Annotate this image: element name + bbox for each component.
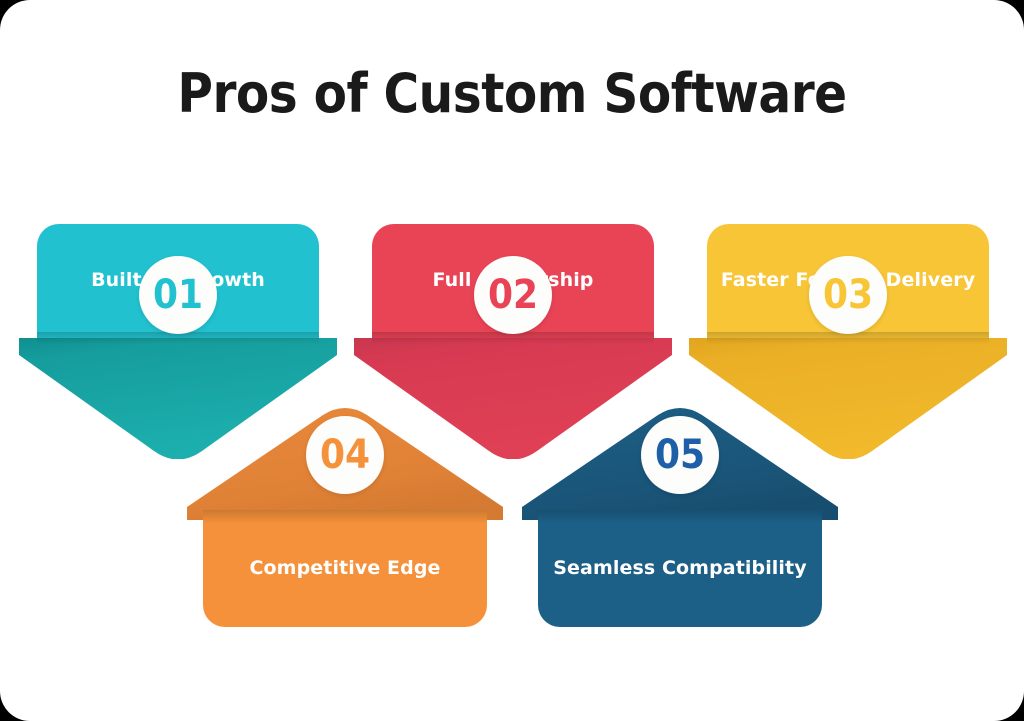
number-text-1: 01: [153, 275, 203, 315]
number-badge-1: 01: [139, 256, 217, 334]
number-text-3: 03: [823, 275, 873, 315]
card-label-5: Seamless Compatibility: [553, 558, 806, 580]
page-title: Pros of Custom Software: [0, 62, 1024, 125]
infographic-canvas: Pros of Custom Software Built for Growth…: [0, 0, 1024, 721]
card-competitive-edge[interactable]: Competitive Edge 04: [203, 407, 487, 627]
card-band-5: Seamless Compatibility: [538, 510, 822, 627]
number-text-5: 05: [655, 435, 705, 475]
number-text-4: 04: [320, 435, 370, 475]
number-text-2: 02: [488, 275, 538, 315]
number-badge-3: 03: [809, 256, 887, 334]
number-badge-5: 05: [641, 416, 719, 494]
card-band-4: Competitive Edge: [203, 510, 487, 627]
card-label-4: Competitive Edge: [249, 558, 440, 580]
card-seamless-compatibility[interactable]: Seamless Compatibility 05: [538, 407, 822, 627]
number-badge-4: 04: [306, 416, 384, 494]
number-badge-2: 02: [474, 256, 552, 334]
